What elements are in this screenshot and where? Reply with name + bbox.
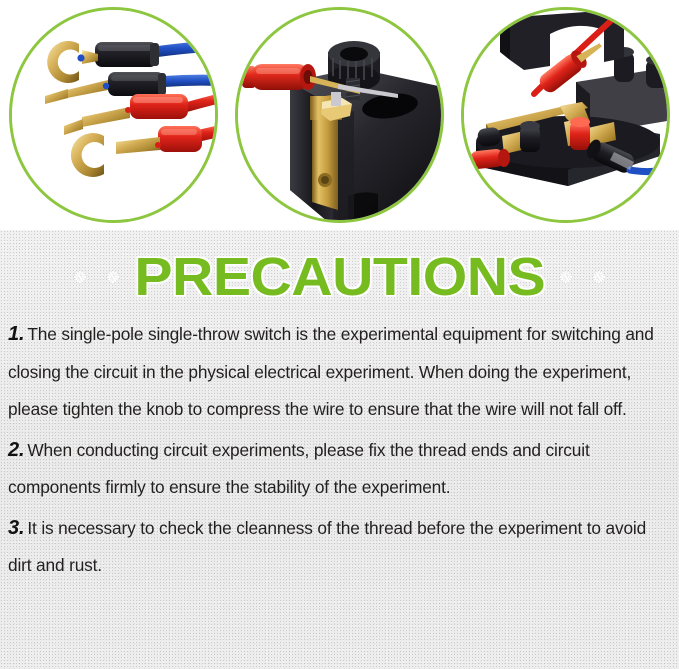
list-item-text: The single-pole single-throw switch is t… bbox=[8, 324, 654, 419]
binding-post-knob-detail-image bbox=[238, 10, 441, 220]
list-item-number: 2. bbox=[8, 439, 27, 461]
knife-switch-illustration bbox=[464, 10, 670, 223]
product-photo-2 bbox=[235, 7, 444, 223]
starburst-icon bbox=[104, 268, 122, 286]
starburst-icon bbox=[557, 268, 575, 286]
spade-terminal-connectors-image bbox=[12, 10, 215, 220]
list-item: 2.When conducting circuit experiments, p… bbox=[8, 432, 674, 507]
binding-post-illustration bbox=[238, 10, 444, 223]
page-title: PRECAUTIONS bbox=[134, 250, 545, 304]
knife-switch-assembly-image bbox=[464, 10, 667, 220]
title-row: PRECAUTIONS bbox=[0, 246, 679, 308]
product-photo-3 bbox=[461, 7, 670, 223]
spade-terminal-illustration bbox=[12, 10, 218, 223]
product-photo-1 bbox=[9, 7, 218, 223]
precautions-panel: PRECAUTIONS 1.The single-pole single-thr… bbox=[0, 230, 679, 669]
starburst-icon bbox=[72, 269, 88, 285]
list-item-number: 3. bbox=[8, 517, 27, 539]
list-item-text: When conducting circuit experiments, ple… bbox=[8, 440, 590, 498]
list-item-number: 1. bbox=[8, 323, 27, 345]
list-item-text: It is necessary to check the cleanness o… bbox=[8, 518, 646, 576]
list-item: 1.The single-pole single-throw switch is… bbox=[8, 316, 674, 429]
precautions-list: 1.The single-pole single-throw switch is… bbox=[8, 316, 674, 588]
list-item: 3.It is necessary to check the cleanness… bbox=[8, 510, 674, 585]
starburst-icon bbox=[591, 269, 607, 285]
product-photo-strip bbox=[0, 0, 679, 230]
